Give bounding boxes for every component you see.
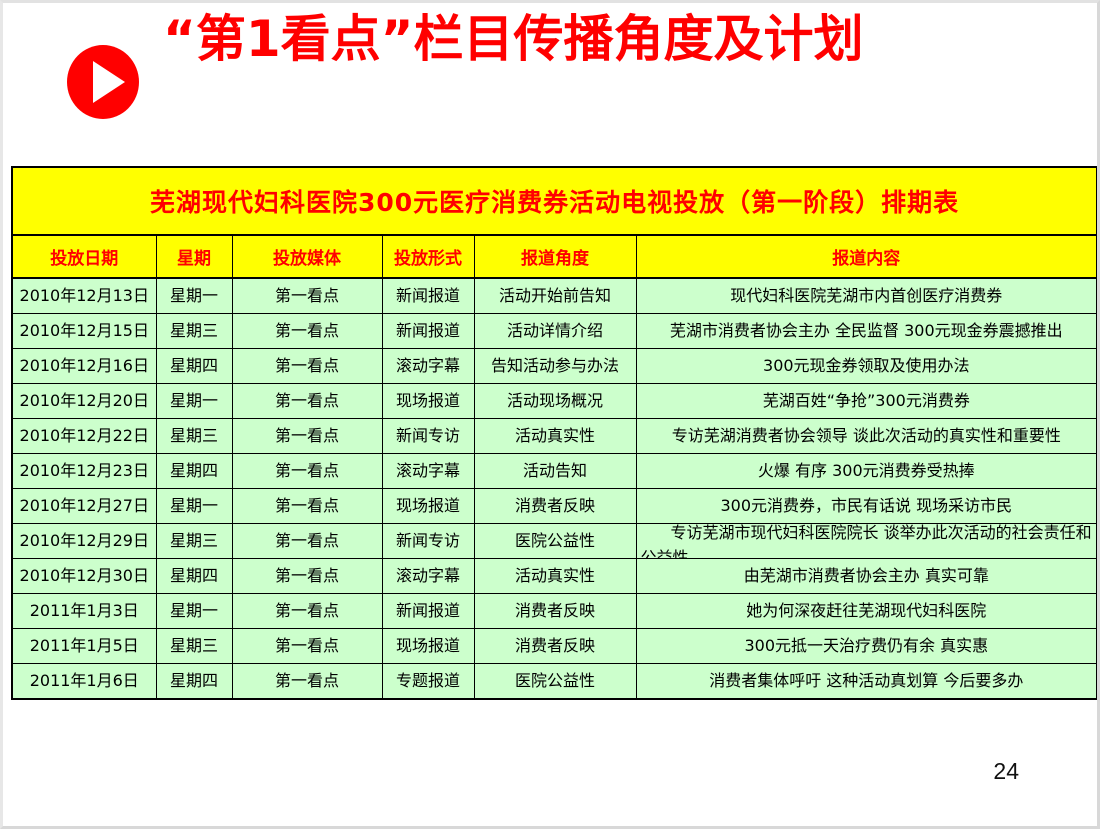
column-header-content: 报道内容 <box>636 235 1097 278</box>
cell-angle-text: 消费者反映 <box>475 630 636 662</box>
cell-angle-text: 活动现场概况 <box>475 385 636 417</box>
cell-angle: 告知活动参与办法 <box>474 349 636 384</box>
broadcast-schedule-table: 芜湖现代妇科医院300元医疗消费券活动电视投放（第一阶段）排期表 投放日期 星期… <box>11 166 1098 700</box>
cell-date-text: 2010年12月27日 <box>13 490 156 522</box>
cell-content: 专访芜湖市现代妇科医院院长 谈举办此次活动的社会责任和公益性 <box>636 524 1097 559</box>
cell-date-text: 2010年12月22日 <box>13 420 156 452</box>
cell-format-text: 新闻报道 <box>383 315 474 347</box>
cell-weekday: 星期三 <box>156 314 232 349</box>
cell-format-text: 滚动字幕 <box>383 560 474 592</box>
cell-date-text: 2010年12月30日 <box>13 560 156 592</box>
column-header-format: 投放形式 <box>382 235 474 278</box>
cell-weekday: 星期三 <box>156 629 232 664</box>
cell-date: 2010年12月13日 <box>12 278 156 314</box>
table-row: 2010年12月16日星期四第一看点滚动字幕告知活动参与办法300元现金券领取及… <box>12 349 1097 384</box>
cell-media-text: 第一看点 <box>233 420 382 452</box>
cell-weekday: 星期三 <box>156 524 232 559</box>
cell-media-text: 第一看点 <box>233 560 382 592</box>
cell-format-text: 新闻报道 <box>383 280 474 312</box>
cell-date: 2011年1月6日 <box>12 664 156 700</box>
cell-date-text: 2010年12月15日 <box>13 315 156 347</box>
cell-date-text: 2010年12月16日 <box>13 350 156 382</box>
cell-media-text: 第一看点 <box>233 490 382 522</box>
column-header-media: 投放媒体 <box>232 235 382 278</box>
table-row: 2010年12月13日星期一第一看点新闻报道活动开始前告知现代妇科医院芜湖市内首… <box>12 278 1097 314</box>
cell-format: 现场报道 <box>382 629 474 664</box>
table-row: 2010年12月20日星期一第一看点现场报道活动现场概况芜湖百姓“争抢”300元… <box>12 384 1097 419</box>
cell-content-text: 火爆 有序 300元消费券受热捧 <box>637 455 1097 487</box>
cell-angle: 消费者反映 <box>474 594 636 629</box>
cell-format-text: 新闻专访 <box>383 420 474 452</box>
title-block: “第1看点”栏目传播角度及计划 <box>3 3 1099 155</box>
cell-angle: 活动详情介绍 <box>474 314 636 349</box>
play-icon <box>65 44 141 120</box>
cell-media: 第一看点 <box>232 278 382 314</box>
cell-media: 第一看点 <box>232 349 382 384</box>
cell-weekday-text: 星期四 <box>157 665 232 697</box>
cell-media: 第一看点 <box>232 314 382 349</box>
cell-angle-text: 告知活动参与办法 <box>475 350 636 382</box>
cell-angle-text: 医院公益性 <box>475 525 636 557</box>
cell-media-text: 第一看点 <box>233 350 382 382</box>
cell-weekday: 星期四 <box>156 349 232 384</box>
cell-date: 2011年1月3日 <box>12 594 156 629</box>
column-header-date: 投放日期 <box>12 235 156 278</box>
cell-weekday: 星期一 <box>156 489 232 524</box>
cell-angle: 医院公益性 <box>474 664 636 700</box>
cell-format: 滚动字幕 <box>382 349 474 384</box>
cell-weekday: 星期四 <box>156 664 232 700</box>
cell-media-text: 第一看点 <box>233 525 382 557</box>
cell-format-text: 现场报道 <box>383 490 474 522</box>
table-caption: 芜湖现代妇科医院300元医疗消费券活动电视投放（第一阶段）排期表 <box>12 167 1097 235</box>
page-title: “第1看点”栏目传播角度及计划 <box>163 5 993 73</box>
cell-content: 芜湖百姓“争抢”300元消费券 <box>636 384 1097 419</box>
cell-content-text: 专访芜湖市现代妇科医院院长 谈举办此次活动的社会责任和公益性 <box>637 524 1097 559</box>
cell-media-text: 第一看点 <box>233 280 382 312</box>
cell-format-text: 现场报道 <box>383 630 474 662</box>
column-header-weekday: 星期 <box>156 235 232 278</box>
cell-content: 火爆 有序 300元消费券受热捧 <box>636 454 1097 489</box>
cell-media: 第一看点 <box>232 559 382 594</box>
cell-content-text: 芜湖百姓“争抢”300元消费券 <box>637 385 1097 417</box>
cell-content-text: 她为何深夜赶往芜湖现代妇科医院 <box>637 595 1097 627</box>
cell-angle: 活动真实性 <box>474 419 636 454</box>
cell-content-text: 300元现金券领取及使用办法 <box>637 350 1097 382</box>
cell-media-text: 第一看点 <box>233 630 382 662</box>
cell-angle-text: 活动开始前告知 <box>475 280 636 312</box>
table-row: 2010年12月15日星期三第一看点新闻报道活动详情介绍芜湖市消费者协会主办 全… <box>12 314 1097 349</box>
cell-content: 专访芜湖消费者协会领导 谈此次活动的真实性和重要性 <box>636 419 1097 454</box>
cell-angle: 医院公益性 <box>474 524 636 559</box>
cell-format: 滚动字幕 <box>382 454 474 489</box>
cell-angle-text: 活动告知 <box>475 455 636 487</box>
cell-angle: 活动开始前告知 <box>474 278 636 314</box>
cell-content: 她为何深夜赶往芜湖现代妇科医院 <box>636 594 1097 629</box>
cell-media: 第一看点 <box>232 384 382 419</box>
cell-media-text: 第一看点 <box>233 315 382 347</box>
cell-weekday-text: 星期三 <box>157 420 232 452</box>
table-row: 2010年12月23日星期四第一看点滚动字幕活动告知火爆 有序 300元消费券受… <box>12 454 1097 489</box>
cell-content-text: 专访芜湖消费者协会领导 谈此次活动的真实性和重要性 <box>637 420 1097 452</box>
cell-angle: 消费者反映 <box>474 489 636 524</box>
table-row: 2011年1月6日星期四第一看点专题报道医院公益性消费者集体呼吁 这种活动真划算… <box>12 664 1097 700</box>
cell-angle-text: 医院公益性 <box>475 665 636 697</box>
cell-weekday: 星期一 <box>156 594 232 629</box>
cell-media: 第一看点 <box>232 629 382 664</box>
cell-weekday: 星期四 <box>156 559 232 594</box>
cell-weekday-text: 星期三 <box>157 315 232 347</box>
cell-content: 现代妇科医院芜湖市内首创医疗消费券 <box>636 278 1097 314</box>
cell-media: 第一看点 <box>232 664 382 700</box>
cell-date: 2010年12月23日 <box>12 454 156 489</box>
cell-format: 专题报道 <box>382 664 474 700</box>
cell-weekday-text: 星期四 <box>157 560 232 592</box>
cell-media: 第一看点 <box>232 454 382 489</box>
cell-content: 芜湖市消费者协会主办 全民监督 300元现金券震撼推出 <box>636 314 1097 349</box>
cell-date: 2010年12月27日 <box>12 489 156 524</box>
cell-format: 新闻专访 <box>382 419 474 454</box>
cell-format-text: 新闻报道 <box>383 595 474 627</box>
cell-format: 滚动字幕 <box>382 559 474 594</box>
cell-weekday: 星期一 <box>156 278 232 314</box>
cell-format-text: 滚动字幕 <box>383 455 474 487</box>
cell-format: 现场报道 <box>382 489 474 524</box>
cell-content-text: 由芜湖市消费者协会主办 真实可靠 <box>637 560 1097 592</box>
cell-date-text: 2011年1月5日 <box>13 630 156 662</box>
cell-media-text: 第一看点 <box>233 595 382 627</box>
cell-angle: 消费者反映 <box>474 629 636 664</box>
page-number: 24 <box>993 758 1019 785</box>
cell-date-text: 2010年12月20日 <box>13 385 156 417</box>
cell-weekday-text: 星期四 <box>157 350 232 382</box>
table-row: 2011年1月5日星期三第一看点现场报道消费者反映300元抵一天治疗费仍有余 真… <box>12 629 1097 664</box>
cell-format: 新闻报道 <box>382 278 474 314</box>
cell-format: 新闻报道 <box>382 594 474 629</box>
cell-format-text: 滚动字幕 <box>383 350 474 382</box>
cell-angle: 活动真实性 <box>474 559 636 594</box>
cell-format-text: 专题报道 <box>383 665 474 697</box>
cell-date: 2010年12月22日 <box>12 419 156 454</box>
table-header-row: 投放日期 星期 投放媒体 投放形式 报道角度 报道内容 <box>12 235 1097 278</box>
cell-format: 新闻报道 <box>382 314 474 349</box>
cell-content: 由芜湖市消费者协会主办 真实可靠 <box>636 559 1097 594</box>
table-row: 2010年12月22日星期三第一看点新闻专访活动真实性专访芜湖消费者协会领导 谈… <box>12 419 1097 454</box>
cell-angle-text: 活动真实性 <box>475 560 636 592</box>
column-header-angle: 报道角度 <box>474 235 636 278</box>
cell-content-text: 300元抵一天治疗费仍有余 真实惠 <box>637 630 1097 662</box>
cell-media-text: 第一看点 <box>233 665 382 697</box>
cell-media: 第一看点 <box>232 419 382 454</box>
cell-date: 2011年1月5日 <box>12 629 156 664</box>
presentation-slide: “第1看点”栏目传播角度及计划 芜湖现代妇科医院300元医疗消费券活动电视投放（… <box>0 0 1100 829</box>
cell-media: 第一看点 <box>232 489 382 524</box>
cell-weekday: 星期一 <box>156 384 232 419</box>
cell-date-text: 2010年12月13日 <box>13 280 156 312</box>
cell-date: 2010年12月30日 <box>12 559 156 594</box>
cell-date: 2010年12月29日 <box>12 524 156 559</box>
cell-format-text: 新闻专访 <box>383 525 474 557</box>
cell-content: 消费者集体呼吁 这种活动真划算 今后要多办 <box>636 664 1097 700</box>
table-row: 2011年1月3日星期一第一看点新闻报道消费者反映她为何深夜赶往芜湖现代妇科医院 <box>12 594 1097 629</box>
cell-content: 300元抵一天治疗费仍有余 真实惠 <box>636 629 1097 664</box>
cell-angle: 活动现场概况 <box>474 384 636 419</box>
cell-weekday-text: 星期一 <box>157 385 232 417</box>
cell-date-text: 2011年1月3日 <box>13 595 156 627</box>
table-row: 2010年12月27日星期一第一看点现场报道消费者反映300元消费券，市民有话说… <box>12 489 1097 524</box>
cell-weekday-text: 星期一 <box>157 595 232 627</box>
cell-angle-text: 消费者反映 <box>475 490 636 522</box>
cell-content: 300元现金券领取及使用办法 <box>636 349 1097 384</box>
cell-date: 2010年12月20日 <box>12 384 156 419</box>
table-row: 2010年12月30日星期四第一看点滚动字幕活动真实性由芜湖市消费者协会主办 真… <box>12 559 1097 594</box>
cell-format-text: 现场报道 <box>383 385 474 417</box>
cell-format: 现场报道 <box>382 384 474 419</box>
cell-media: 第一看点 <box>232 524 382 559</box>
table-caption-row: 芜湖现代妇科医院300元医疗消费券活动电视投放（第一阶段）排期表 <box>12 167 1097 235</box>
cell-media-text: 第一看点 <box>233 385 382 417</box>
cell-angle-text: 消费者反映 <box>475 595 636 627</box>
cell-weekday-text: 星期三 <box>157 630 232 662</box>
cell-angle-text: 活动真实性 <box>475 420 636 452</box>
cell-weekday: 星期四 <box>156 454 232 489</box>
cell-weekday: 星期三 <box>156 419 232 454</box>
cell-weekday-text: 星期四 <box>157 455 232 487</box>
cell-date-text: 2011年1月6日 <box>13 665 156 697</box>
cell-content-text: 现代妇科医院芜湖市内首创医疗消费券 <box>637 280 1097 312</box>
cell-content-text: 300元消费券，市民有话说 现场采访市民 <box>637 490 1097 522</box>
cell-angle-text: 活动详情介绍 <box>475 315 636 347</box>
cell-date: 2010年12月15日 <box>12 314 156 349</box>
cell-angle: 活动告知 <box>474 454 636 489</box>
cell-date-text: 2010年12月29日 <box>13 525 156 557</box>
cell-content-text: 芜湖市消费者协会主办 全民监督 300元现金券震撼推出 <box>637 315 1097 347</box>
cell-date: 2010年12月16日 <box>12 349 156 384</box>
table-row: 2010年12月29日星期三第一看点新闻专访医院公益性专访芜湖市现代妇科医院院长… <box>12 524 1097 559</box>
cell-format: 新闻专访 <box>382 524 474 559</box>
cell-date-text: 2010年12月23日 <box>13 455 156 487</box>
cell-media-text: 第一看点 <box>233 455 382 487</box>
cell-weekday-text: 星期一 <box>157 490 232 522</box>
cell-content-text: 消费者集体呼吁 这种活动真划算 今后要多办 <box>637 665 1097 697</box>
cell-weekday-text: 星期三 <box>157 525 232 557</box>
cell-content: 300元消费券，市民有话说 现场采访市民 <box>636 489 1097 524</box>
cell-weekday-text: 星期一 <box>157 280 232 312</box>
cell-media: 第一看点 <box>232 594 382 629</box>
